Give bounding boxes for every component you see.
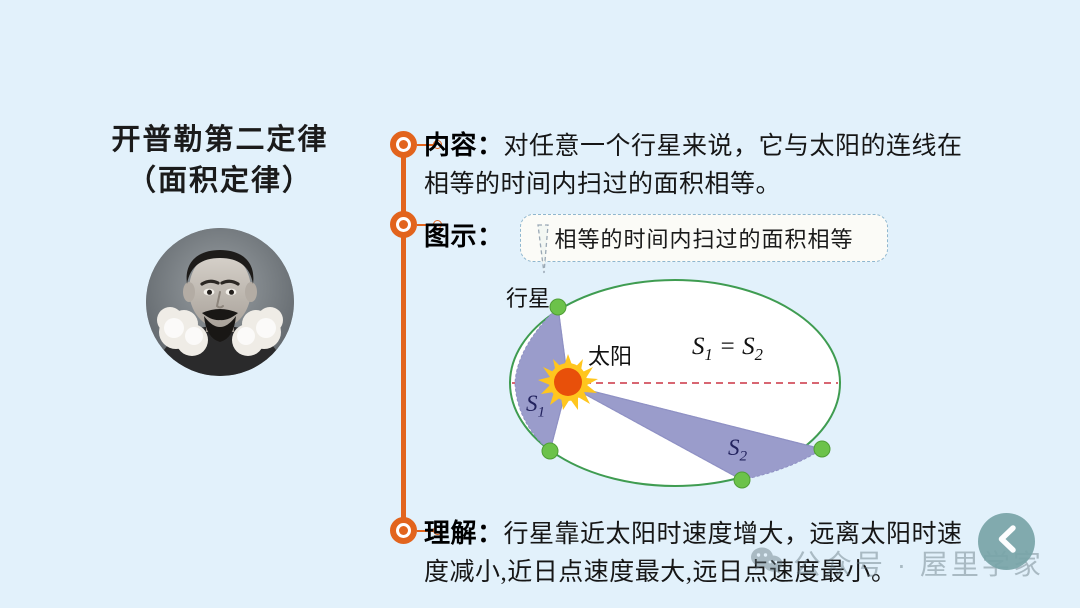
- chevron-left-icon: [994, 524, 1020, 559]
- eq-lhs: S: [692, 333, 705, 360]
- timeline-node-understand[interactable]: [390, 517, 417, 544]
- eq-rhs: S: [742, 333, 755, 360]
- page-title-line-2: （面积定律）: [70, 161, 370, 202]
- figure-lead-label: 图示：: [424, 216, 504, 253]
- s2-label: S2: [728, 435, 747, 466]
- s2-base: S: [728, 435, 740, 460]
- sun-label: 太阳: [588, 339, 632, 371]
- planet-label: 行星: [506, 281, 550, 313]
- content-text: 对任意一个行星来说，它与太阳的连线在相等的时间内扫过的面积相等。: [424, 133, 963, 198]
- content-lead-label: 内容：: [424, 130, 504, 160]
- s2-sub: 2: [740, 448, 748, 465]
- timeline-node-content[interactable]: [390, 131, 417, 158]
- eq-lhs-sub: 1: [705, 345, 713, 364]
- planet-dot-3: [734, 472, 750, 488]
- s1-label: S1: [526, 391, 545, 422]
- callout-text: 相等的时间内扫过的面积相等: [554, 222, 853, 254]
- eq-op: =: [713, 333, 742, 360]
- slide-canvas: 开普勒第二定律 （面积定律）: [0, 0, 1080, 608]
- understand-paragraph: 理解：行星靠近太阳时速度增大，远离太阳时速度减小,近日点速度最大,远日点速度最小…: [424, 514, 984, 592]
- eq-rhs-sub: 2: [755, 345, 763, 364]
- planet-dot-4: [814, 441, 830, 457]
- area-equation-label: S1 = S2: [692, 333, 763, 365]
- understand-lead-label: 理解：: [424, 518, 504, 548]
- planet-dot-1: [550, 299, 566, 315]
- left-column: 开普勒第二定律 （面积定律）: [70, 120, 370, 376]
- timeline-rail: [401, 142, 406, 532]
- timeline-node-figure[interactable]: [390, 211, 417, 238]
- orbit-diagram: 行星 太阳 S1 = S2 S1 S2: [470, 255, 900, 510]
- understand-block: 理解：行星靠近太阳时速度增大，远离太阳时速度减小,近日点速度最大,远日点速度最小…: [424, 514, 984, 592]
- understand-text: 行星靠近太阳时速度增大，远离太阳时速度减小,近日点速度最大,远日点速度最小。: [424, 521, 963, 586]
- content-block: 内容：对任意一个行星来说，它与太阳的连线在相等的时间内扫过的面积相等。: [424, 126, 984, 204]
- portrait-wrapper: [70, 228, 370, 376]
- s1-base: S: [526, 391, 538, 416]
- content-paragraph: 内容：对任意一个行星来说，它与太阳的连线在相等的时间内扫过的面积相等。: [424, 126, 984, 204]
- planet-dot-2: [542, 443, 558, 459]
- sun-core: [554, 368, 582, 396]
- page-title-line-1: 开普勒第二定律: [70, 120, 370, 161]
- s1-sub: 1: [538, 404, 546, 421]
- back-button[interactable]: [978, 513, 1035, 570]
- kepler-portrait: [146, 228, 294, 376]
